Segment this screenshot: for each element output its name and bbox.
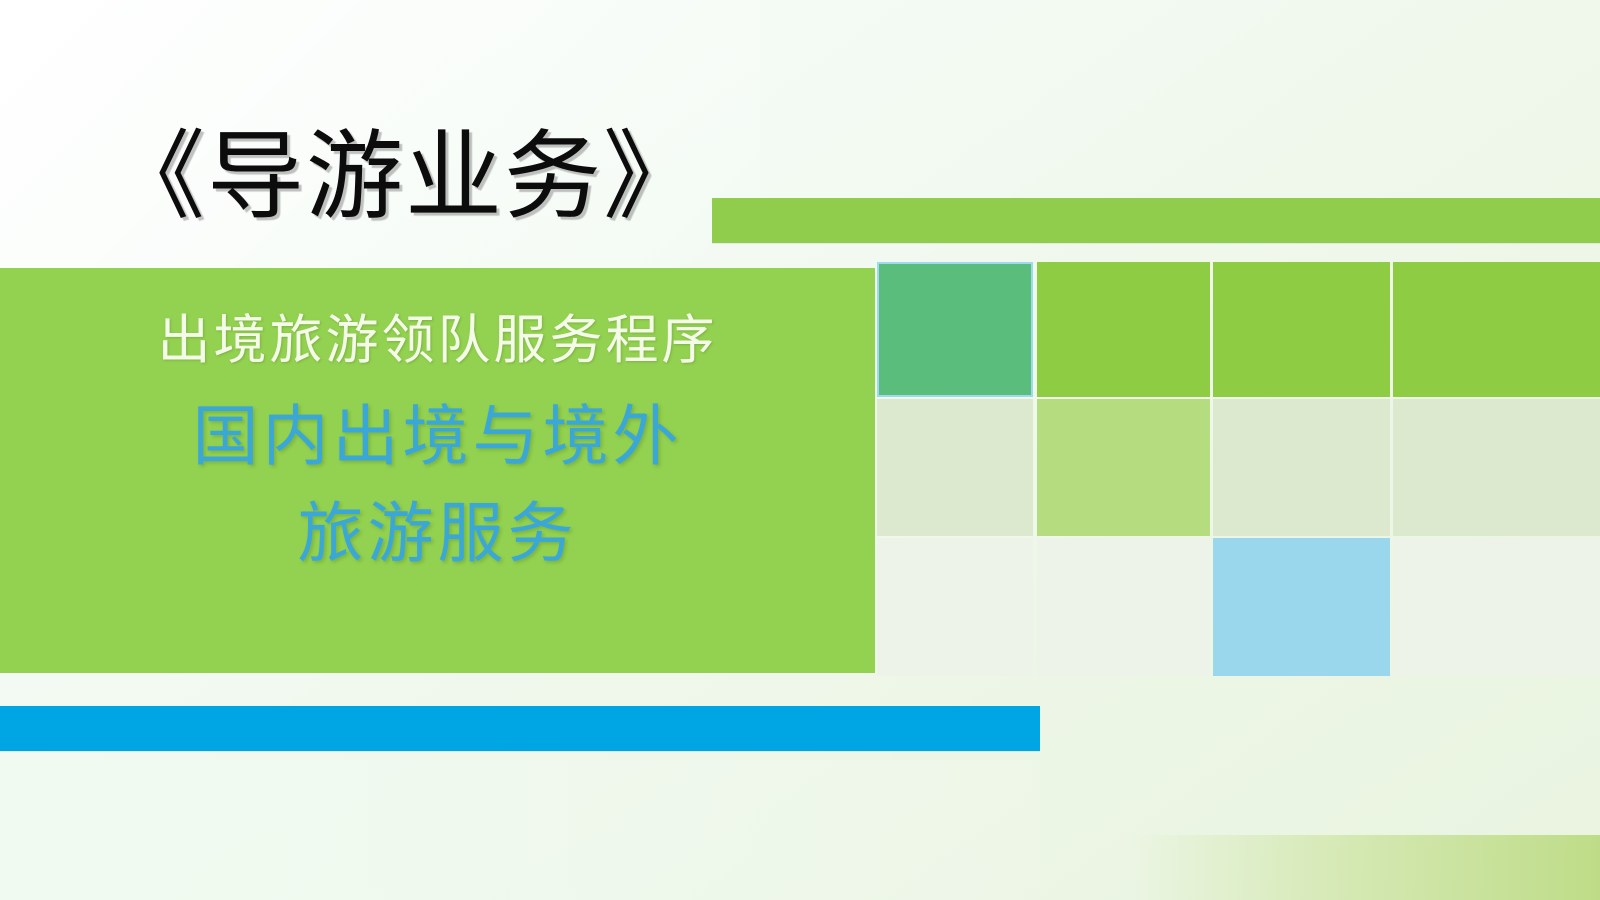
swatch-r3c3 — [1213, 538, 1390, 676]
background-wash-bottom-left — [0, 760, 1040, 900]
slide-title: 《导游业务》 — [108, 124, 702, 233]
swatch-r2c4 — [1393, 399, 1600, 536]
subtitle-line-2: 国内出境与境外 — [193, 398, 683, 477]
background-wash-bottom-right — [1130, 835, 1600, 900]
swatch-r1c2 — [1037, 262, 1210, 397]
accent-bar-bottom-blue — [0, 706, 1040, 751]
swatch-r1c1 — [877, 262, 1033, 397]
swatch-r2c1 — [877, 399, 1033, 536]
swatch-r3c2 — [1037, 538, 1210, 676]
swatch-r3c4 — [1393, 538, 1600, 676]
green-title-panel: 出境旅游领队服务程序 国内出境与境外 旅游服务 — [0, 268, 875, 673]
swatch-r1c3 — [1213, 262, 1390, 397]
swatch-r2c2 — [1037, 399, 1210, 536]
decorative-swatch-grid — [877, 261, 1600, 676]
swatch-r1c4 — [1393, 262, 1600, 397]
presentation-slide: 《导游业务》 出境旅游领队服务程序 国内出境与境外 旅游服务 — [0, 0, 1600, 900]
swatch-r3c1 — [877, 538, 1033, 676]
subtitle-line-3: 旅游服务 — [298, 495, 578, 574]
accent-bar-top-green — [712, 198, 1600, 243]
swatch-r2c3 — [1213, 399, 1390, 536]
subtitle-line-1: 出境旅游领队服务程序 — [158, 308, 718, 374]
